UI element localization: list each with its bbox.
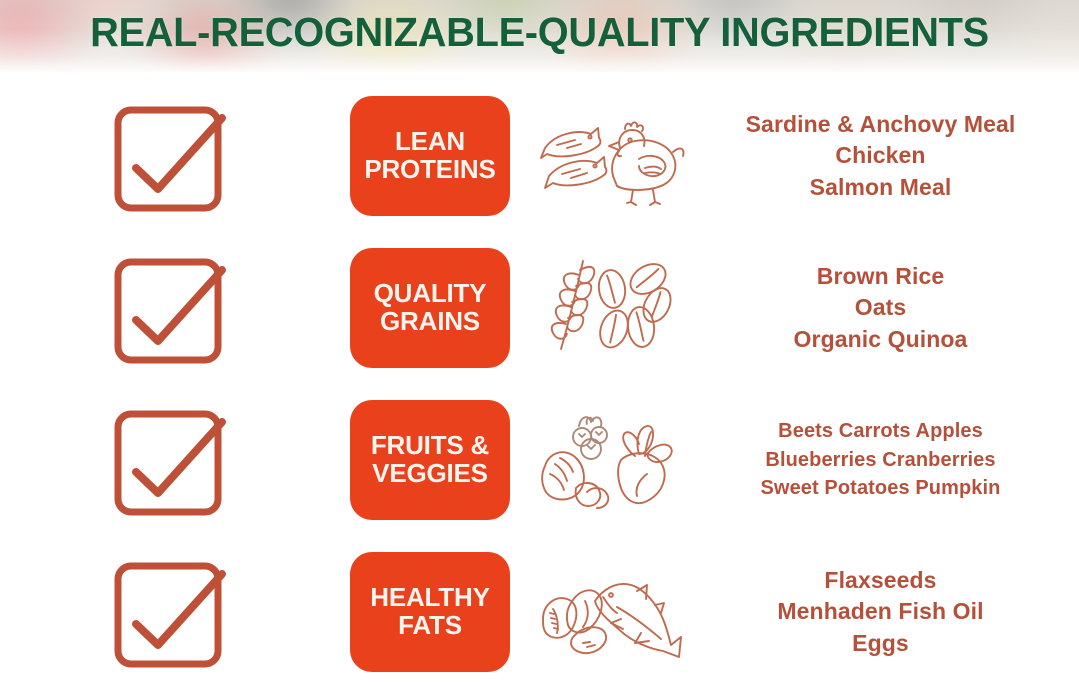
- ingredient-row: QUALITY GRAINS: [0, 232, 1079, 384]
- badge-line-1: LEAN: [395, 128, 465, 156]
- checkbox-checked-icon[interactable]: [110, 552, 230, 672]
- checkbox-cell: [0, 552, 340, 672]
- checkbox-checked-icon[interactable]: [110, 248, 230, 368]
- ingredient-line: Eggs: [852, 628, 909, 660]
- badge-line-1: QUALITY: [374, 280, 487, 308]
- checkbox-checked-icon[interactable]: [110, 400, 230, 520]
- badge-line-1: FRUITS &: [371, 432, 489, 460]
- ingredients-infographic: REAL-RECOGNIZABLE-QUALITY INGREDIENTS LE…: [0, 0, 1079, 682]
- badge-line-2: VEGGIES: [372, 460, 488, 488]
- ingredient-list: Brown Rice Oats Organic Quinoa: [700, 261, 1079, 356]
- ingredient-list: Flaxseeds Menhaden Fish Oil Eggs: [700, 565, 1079, 660]
- badge-cell: HEALTHY FATS: [340, 552, 520, 672]
- ingredient-line: Beets Carrots Apples: [778, 417, 983, 446]
- ingredient-line: Chicken: [835, 140, 925, 172]
- ingredient-line: Salmon Meal: [810, 172, 952, 204]
- badge-line-2: GRAINS: [380, 308, 480, 336]
- ingredient-line: Menhaden Fish Oil: [777, 596, 983, 628]
- ingredient-line: Brown Rice: [817, 261, 945, 293]
- badge-line-2: FATS: [398, 612, 462, 640]
- category-badge-fruits-veggies[interactable]: FRUITS & VEGGIES: [350, 400, 510, 520]
- ingredient-line: Sardine & Anchovy Meal: [746, 109, 1016, 141]
- checkbox-cell: [0, 400, 340, 520]
- checkbox-cell: [0, 248, 340, 368]
- ingredient-row: FRUITS & VEGGIES: [0, 384, 1079, 536]
- ingredient-line: Flaxseeds: [824, 565, 936, 597]
- category-badge-quality-grains[interactable]: QUALITY GRAINS: [350, 248, 510, 368]
- badge-cell: LEAN PROTEINS: [340, 96, 520, 216]
- fish-and-chicken-icon: [535, 104, 685, 209]
- ingredient-line: Blueberries Cranberries: [765, 446, 995, 475]
- checkbox-cell: [0, 96, 340, 216]
- badge-cell: QUALITY GRAINS: [340, 248, 520, 368]
- page-title: REAL-RECOGNIZABLE-QUALITY INGREDIENTS: [16, 9, 1063, 56]
- vegetables-and-berries-icon: [535, 404, 685, 516]
- ingredient-rows: LEAN PROTEINS: [0, 72, 1079, 682]
- badge-cell: FRUITS & VEGGIES: [340, 400, 520, 520]
- checkbox-checked-icon[interactable]: [110, 96, 230, 216]
- ingredient-row: HEALTHY FATS: [0, 536, 1079, 682]
- header-banner: REAL-RECOGNIZABLE-QUALITY INGREDIENTS: [0, 0, 1079, 72]
- ingredient-row: LEAN PROTEINS: [0, 80, 1079, 232]
- art-cell: [520, 253, 700, 363]
- badge-line-1: HEALTHY: [370, 584, 489, 612]
- category-badge-lean-proteins[interactable]: LEAN PROTEINS: [350, 96, 510, 216]
- ingredient-list: Beets Carrots Apples Blueberries Cranber…: [700, 417, 1079, 503]
- ingredient-list: Sardine & Anchovy Meal Chicken Salmon Me…: [700, 109, 1079, 204]
- category-badge-healthy-fats[interactable]: HEALTHY FATS: [350, 552, 510, 672]
- ingredient-line: Oats: [855, 292, 907, 324]
- ingredient-line: Organic Quinoa: [794, 324, 968, 356]
- art-cell: [520, 104, 700, 209]
- art-cell: [520, 404, 700, 516]
- art-cell: [520, 557, 700, 667]
- ingredient-line: Sweet Potatoes Pumpkin: [760, 474, 1000, 503]
- flaxseeds-and-fish-icon: [535, 557, 685, 667]
- badge-line-2: PROTEINS: [364, 156, 495, 184]
- wheat-and-grains-icon: [535, 253, 685, 363]
